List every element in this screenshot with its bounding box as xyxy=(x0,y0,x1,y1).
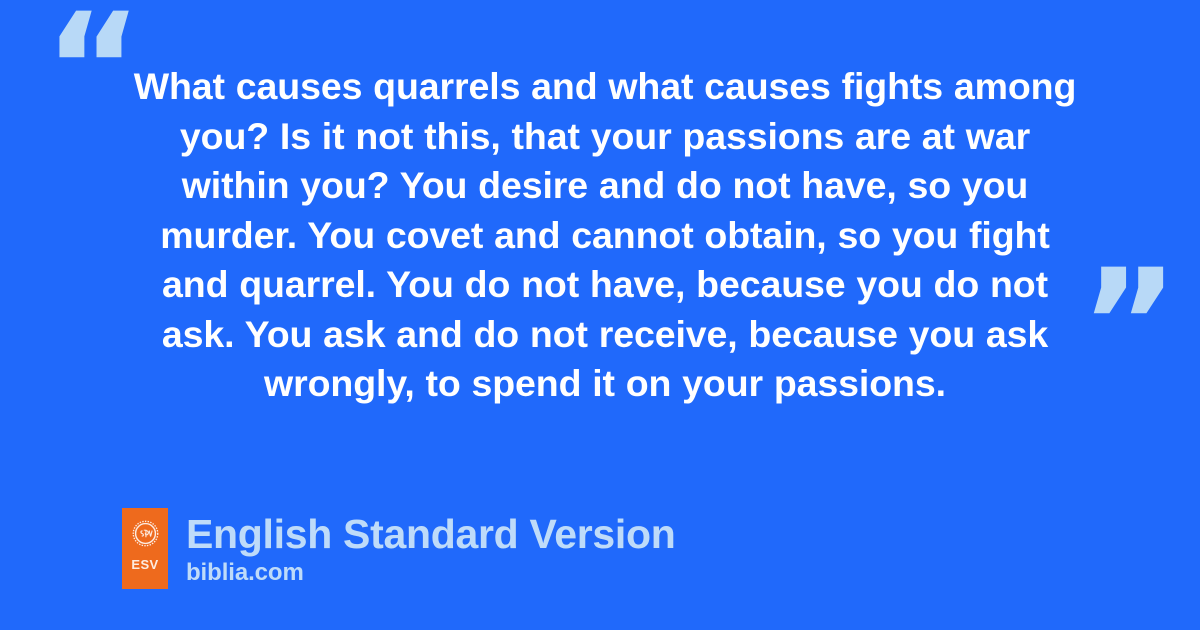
quote-card: “ ” What causes quarrels and what causes… xyxy=(0,0,1200,630)
bible-version-name: English Standard Version xyxy=(186,510,675,558)
esv-logo: ESV xyxy=(122,508,168,589)
esv-abbreviation-label: ESV xyxy=(131,558,158,571)
quote-block: What causes quarrels and what causes fig… xyxy=(130,62,1080,409)
attribution-footer: ESV English Standard Version biblia.com xyxy=(122,508,675,589)
seal-emblem-icon xyxy=(132,520,159,547)
site-url-label: biblia.com xyxy=(186,558,675,588)
quote-text: What causes quarrels and what causes fig… xyxy=(130,62,1080,409)
attribution-text-group: English Standard Version biblia.com xyxy=(186,508,675,588)
open-quote-icon: “ xyxy=(44,0,139,144)
close-quote-icon: ” xyxy=(1080,250,1175,400)
